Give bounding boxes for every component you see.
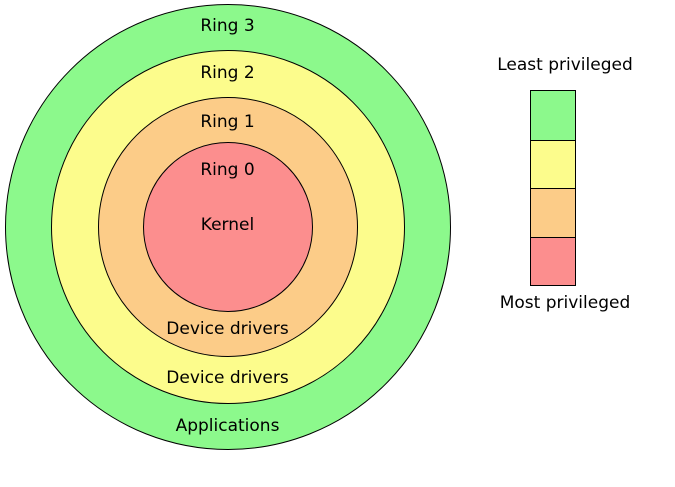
ring-0-circle: [143, 142, 313, 312]
legend-caption-most-privileged: Most privileged: [455, 294, 675, 313]
legend-caption-least-privileged: Least privileged: [455, 56, 675, 75]
legend-swatch-ring2: [531, 140, 575, 189]
legend-swatch-least-privileged: [531, 91, 575, 140]
rings-group: Ring 3 Ring 2 Ring 1 Ring 0 Kernel Devic…: [0, 0, 460, 487]
protection-rings-diagram: Ring 3 Ring 2 Ring 1 Ring 0 Kernel Devic…: [0, 0, 675, 487]
legend-swatch-most-privileged: [531, 237, 575, 286]
legend-swatch-ring1: [531, 188, 575, 237]
legend-color-bar: [530, 90, 576, 286]
privilege-legend: Least privileged Most privileged: [455, 0, 675, 487]
